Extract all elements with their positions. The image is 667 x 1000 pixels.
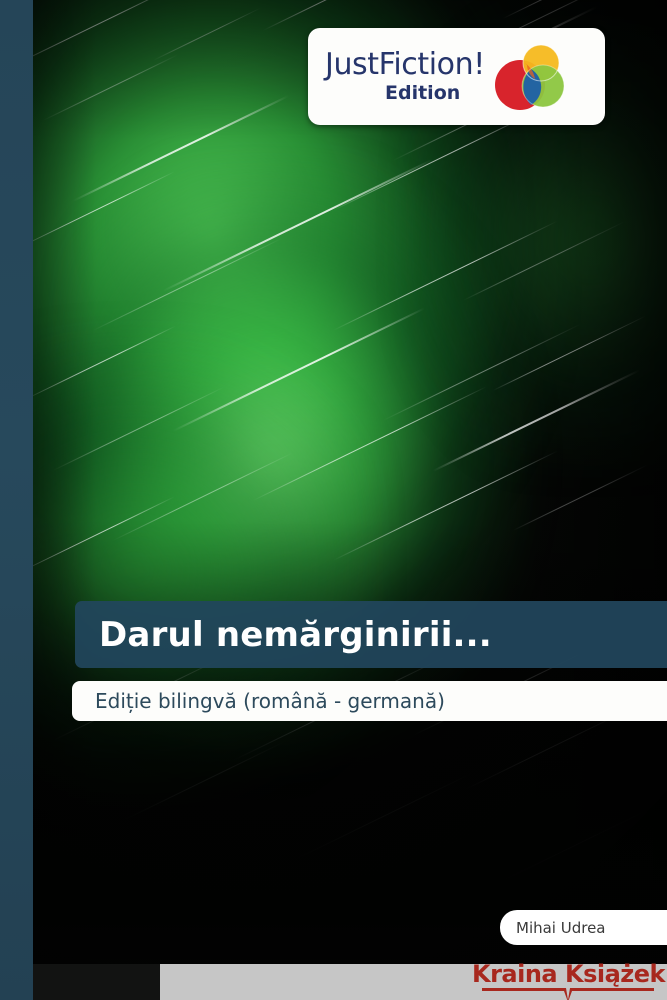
open-book-icon xyxy=(480,987,656,1000)
page-title: Darul nemărginirii... xyxy=(99,615,492,655)
watermark-text: Kraina Książek xyxy=(472,962,665,986)
bottom-dark-gap xyxy=(33,964,160,1000)
author-name: Mihai Udrea xyxy=(516,919,606,937)
book-spine-strip xyxy=(0,0,33,1000)
subtitle-bar: Ediție bilingvă (română - germană) xyxy=(72,681,667,721)
subtitle-text: Ediție bilingvă (română - germană) xyxy=(95,689,445,713)
author-bar: Mihai Udrea xyxy=(500,910,667,945)
kraina-ksiazek-watermark: Kraina Książek xyxy=(472,962,665,1000)
cover-background-photo xyxy=(33,0,667,1000)
watermark-strip: Kraina Książek xyxy=(160,964,667,1000)
book-cover: JustFiction! Edition Darul nemărgi xyxy=(0,0,667,1000)
publisher-edition-label: Edition xyxy=(385,84,485,103)
publisher-name: JustFiction! xyxy=(325,50,485,80)
photo-vignette xyxy=(33,0,667,1000)
publisher-logo-panel: JustFiction! Edition xyxy=(308,28,605,125)
overlapping-circles-icon xyxy=(491,41,565,115)
title-bar: Darul nemărginirii... xyxy=(75,601,667,668)
publisher-wordmark: JustFiction! Edition xyxy=(325,50,485,103)
